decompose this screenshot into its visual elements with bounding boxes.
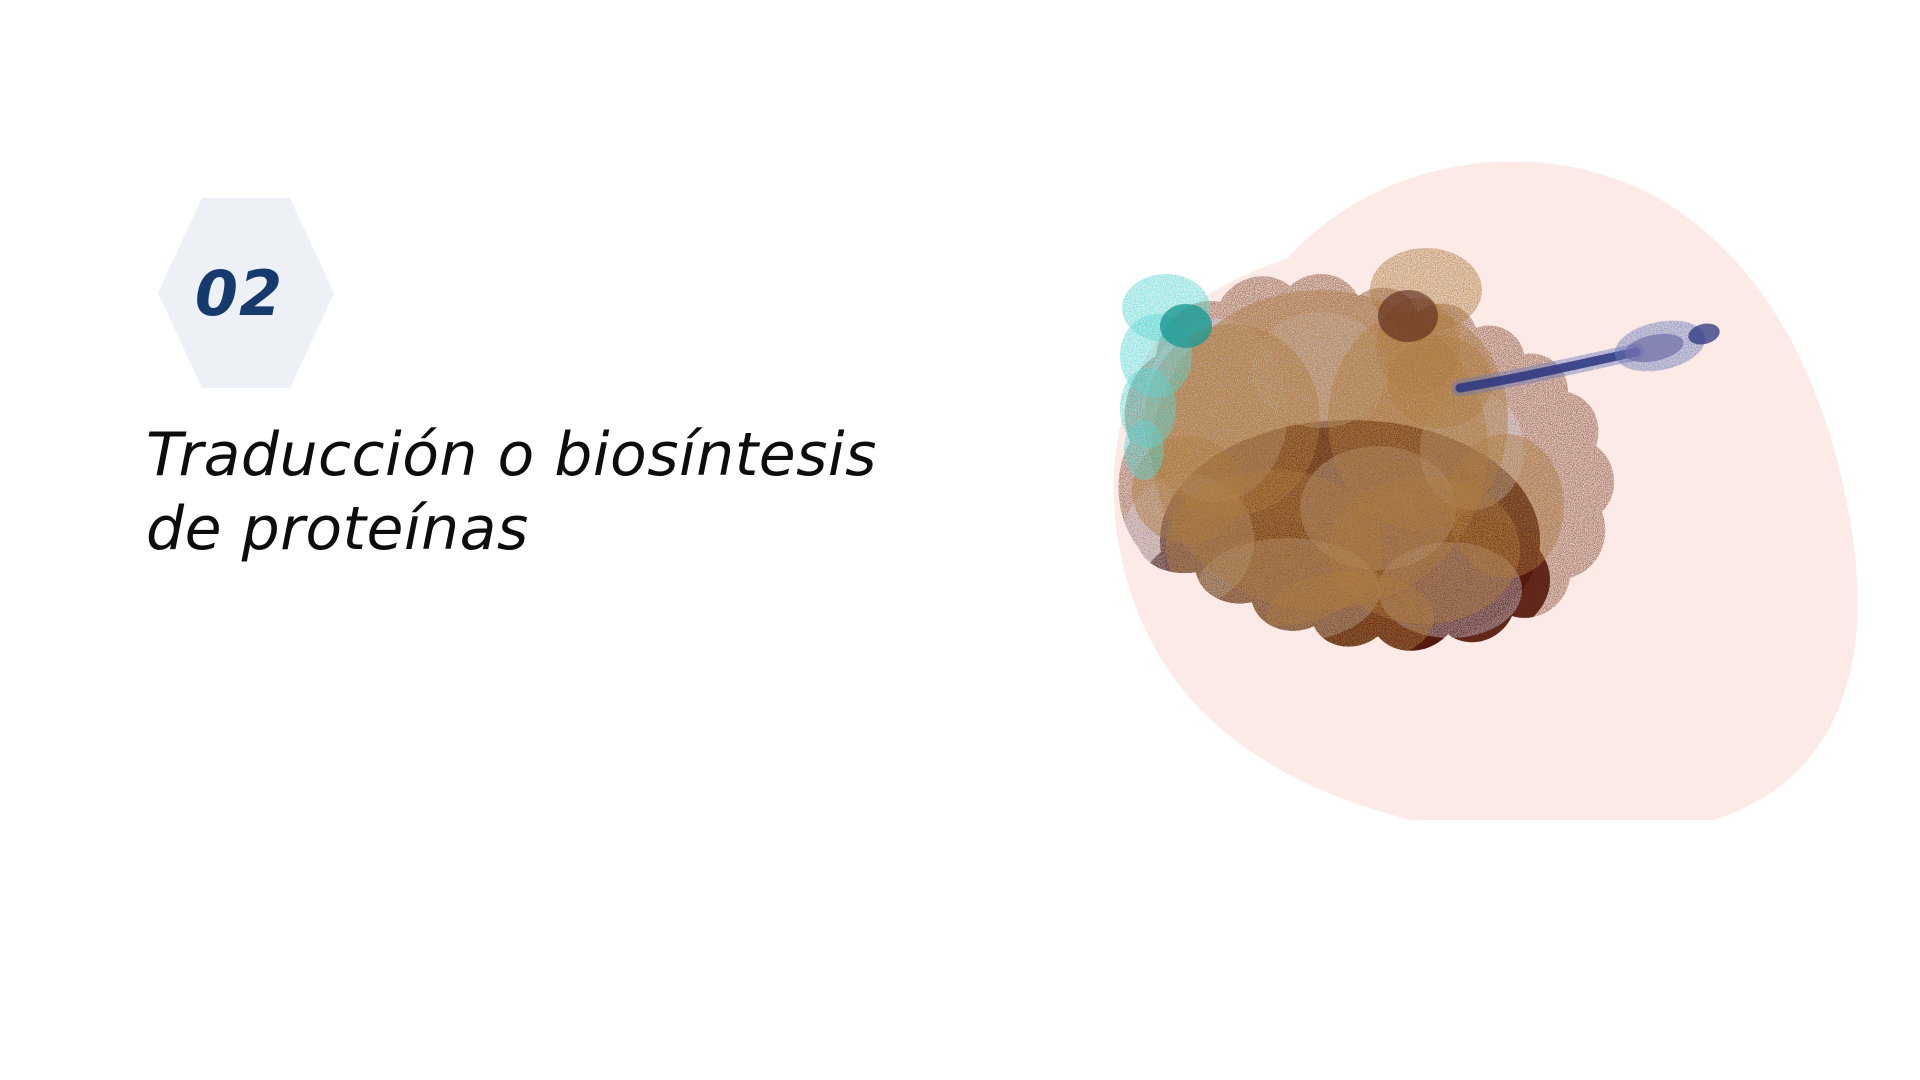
elongation-factor <box>1120 274 1212 480</box>
artwork-svg <box>1020 120 1920 820</box>
slide-canvas: 02 Traducción o biosíntesis de proteínas <box>0 0 1920 1080</box>
page-title-line-2: de proteínas <box>146 492 936 566</box>
ribosome-molecular-model <box>1100 248 1722 664</box>
small-subunit-rrna <box>1122 312 1524 642</box>
section-number-badge: 02 <box>158 196 334 390</box>
ribosomal-proteins-shadow <box>1100 250 1620 660</box>
section-number: 02 <box>158 196 334 390</box>
mrna-strand <box>1460 313 1722 388</box>
page-title: Traducción o biosíntesis de proteínas <box>146 418 936 566</box>
page-title-line-1: Traducción o biosíntesis <box>146 418 936 492</box>
pink-blob-background <box>1114 161 1858 820</box>
large-subunit-rrna <box>1132 290 1564 664</box>
large-subunit-crown <box>1370 248 1492 428</box>
ribosome-translation-illustration <box>1020 120 1920 820</box>
